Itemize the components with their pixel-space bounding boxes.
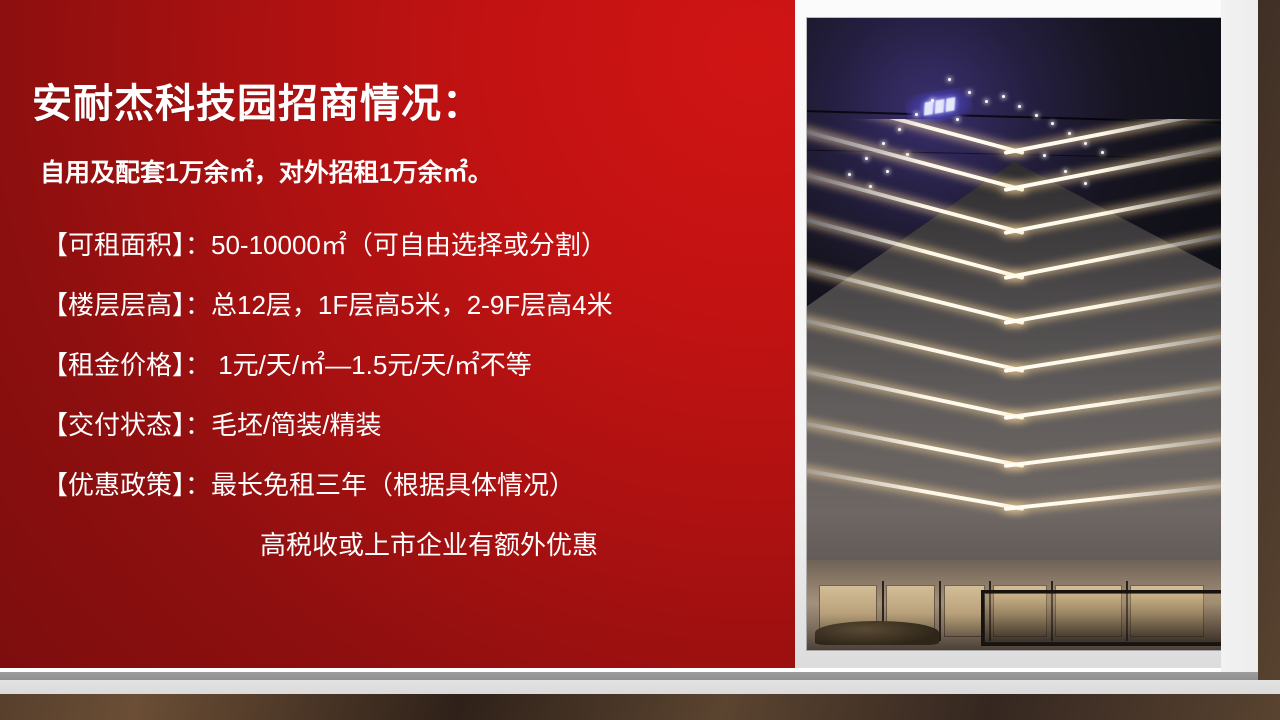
tower-structure [807,119,1221,650]
list-item: 【交付状态】：毛坯/简装/精装 [42,395,782,455]
led-chevron-band [807,464,1221,468]
list-item: 【楼层层高】：总12层，1F层高5米，2-9F层高4米 [42,275,782,335]
detail-list: 【可租面积】：50-10000㎡（可自由选择或分割） 【楼层层高】：总12层，1… [42,215,782,575]
vertical-scrollbar[interactable] [1221,0,1258,694]
building-night-photo [807,18,1221,650]
window-bottom-edge [0,672,1258,680]
led-chevron-band [807,151,1221,155]
led-chevron-band [807,276,1221,280]
window-bottom-bar [0,680,1280,694]
list-item: 【优惠政策】：最长免租三年（根据具体情况） [42,455,782,515]
photo-frame [795,0,1240,668]
entrance-canopy [981,590,1221,647]
entrance-planter [815,621,939,644]
list-item: 【租金价格】： 1元/天/㎡—1.5元/天/㎡不等 [42,335,782,395]
slide-subtitle: 自用及配套1万余㎡，对外招租1万余㎡。 [40,161,493,186]
window-frame: 安耐杰科技园招商情况： 自用及配套1万余㎡，对外招租1万余㎡。 【可租面积】：5… [0,0,1258,694]
led-chevron-band [807,416,1221,420]
presentation-slide: 安耐杰科技园招商情况： 自用及配套1万余㎡，对外招租1万余㎡。 【可租面积】：5… [0,0,1240,672]
list-item-continuation: 高税收或上市企业有额外优惠 [42,515,782,575]
led-chevron-band [807,507,1221,511]
led-chevron-band [807,369,1221,373]
led-chevron-band [807,321,1221,325]
slide-text-block: 安耐杰科技园招商情况： 自用及配套1万余㎡，对外招租1万余㎡。 【可租面积】：5… [0,0,795,668]
page-title: 安耐杰科技园招商情况： [32,84,483,124]
list-item: 【可租面积】：50-10000㎡（可自由选择或分割） [42,215,782,275]
ground-floor-frontage [807,560,1221,650]
